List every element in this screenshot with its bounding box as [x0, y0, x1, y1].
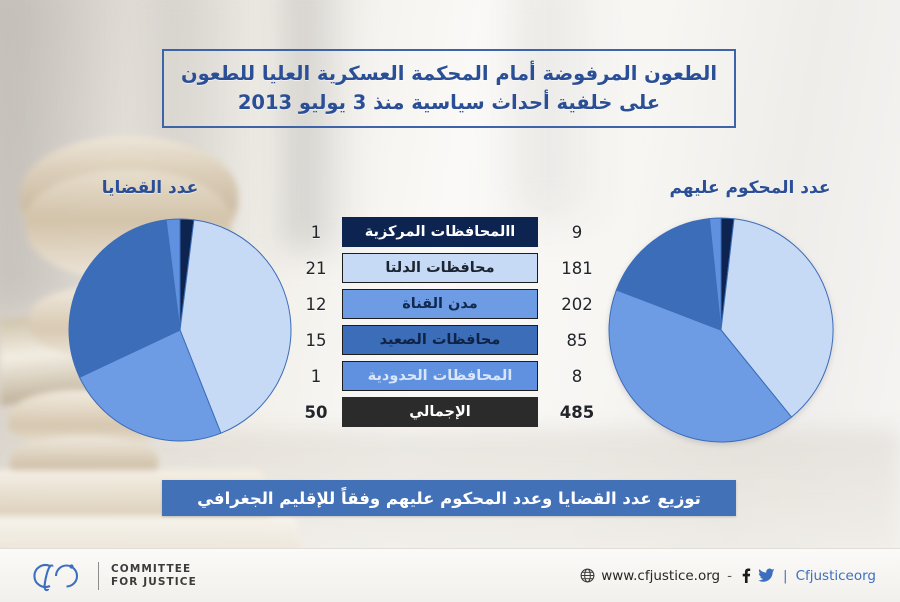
region-label: محافظات الصعيد [342, 325, 538, 355]
caption-text: توزيع عدد القضايا وعدد المحكوم عليهم وفق… [197, 489, 701, 508]
cases-value: 50 [290, 403, 342, 422]
region-label: المحافظات الحدودية [342, 361, 538, 391]
caption-bar: توزيع عدد القضايا وعدد المحكوم عليهم وفق… [162, 480, 736, 516]
title-box: الطعون المرفوضة أمام المحكمة العسكرية ال… [162, 49, 736, 128]
legend-table: 1االمحافظات المركزية921محافظات الدلتا181… [290, 216, 610, 432]
convicts-value: 181 [538, 259, 608, 278]
legend-row: 12مدن القناة202 [290, 288, 610, 320]
title-line-2: على خلفية أحداث سياسية منذ 3 يوليو 2013 [238, 91, 660, 114]
legend-total-row: 50الإجمالي485 [290, 396, 610, 428]
region-label: محافظات الدلتا [342, 253, 538, 283]
website-url[interactable]: www.cfjustice.org [601, 568, 720, 584]
convicts-value: 485 [538, 403, 608, 422]
legend-row: 15محافظات الصعيد85 [290, 324, 610, 356]
page-title: الطعون المرفوضة أمام المحكمة العسكرية ال… [181, 60, 717, 117]
footer-contact: www.cfjustice.org - | Cfjusticeorg [580, 568, 876, 584]
legend-row: 1االمحافظات المركزية9 [290, 216, 610, 248]
brand-line-2: FOR JUSTICE [111, 576, 197, 589]
infographic-canvas: الطعون المرفوضة أمام المحكمة العسكرية ال… [0, 0, 900, 602]
region-label: الإجمالي [342, 397, 538, 427]
cfj-logo-icon [26, 559, 88, 593]
pie-chart-convicts [608, 217, 834, 443]
convicts-value: 202 [538, 295, 608, 314]
facebook-icon[interactable] [739, 568, 752, 583]
region-label: االمحافظات المركزية [342, 217, 538, 247]
right-chart-header: عدد المحكوم عليهم [600, 178, 900, 198]
left-chart-header: عدد القضايا [0, 178, 300, 198]
cases-value: 12 [290, 295, 342, 314]
cases-value: 15 [290, 331, 342, 350]
legend-row: 1المحافظات الحدودية8 [290, 360, 610, 392]
footer-bar: COMMITTEE FOR JUSTICE www.cfjustice.org … [0, 548, 900, 602]
title-line-1: الطعون المرفوضة أمام المحكمة العسكرية ال… [181, 62, 717, 85]
brand-line-1: COMMITTEE [111, 563, 197, 576]
brand-logo: COMMITTEE FOR JUSTICE [26, 559, 197, 593]
pie-chart-cases [68, 218, 292, 442]
legend-row: 21محافظات الدلتا181 [290, 252, 610, 284]
region-label: مدن القناة [342, 289, 538, 319]
footer-separator: | [781, 568, 790, 584]
cases-value: 21 [290, 259, 342, 278]
social-handle[interactable]: Cfjusticeorg [796, 568, 876, 584]
twitter-icon[interactable] [758, 568, 775, 583]
convicts-value: 85 [538, 331, 608, 350]
cases-value: 1 [290, 367, 342, 386]
globe-icon [580, 568, 595, 583]
footer-dash: - [726, 568, 733, 584]
cases-value: 1 [290, 223, 342, 242]
convicts-value: 8 [538, 367, 608, 386]
convicts-value: 9 [538, 223, 608, 242]
brand-wordmark: COMMITTEE FOR JUSTICE [111, 563, 197, 589]
